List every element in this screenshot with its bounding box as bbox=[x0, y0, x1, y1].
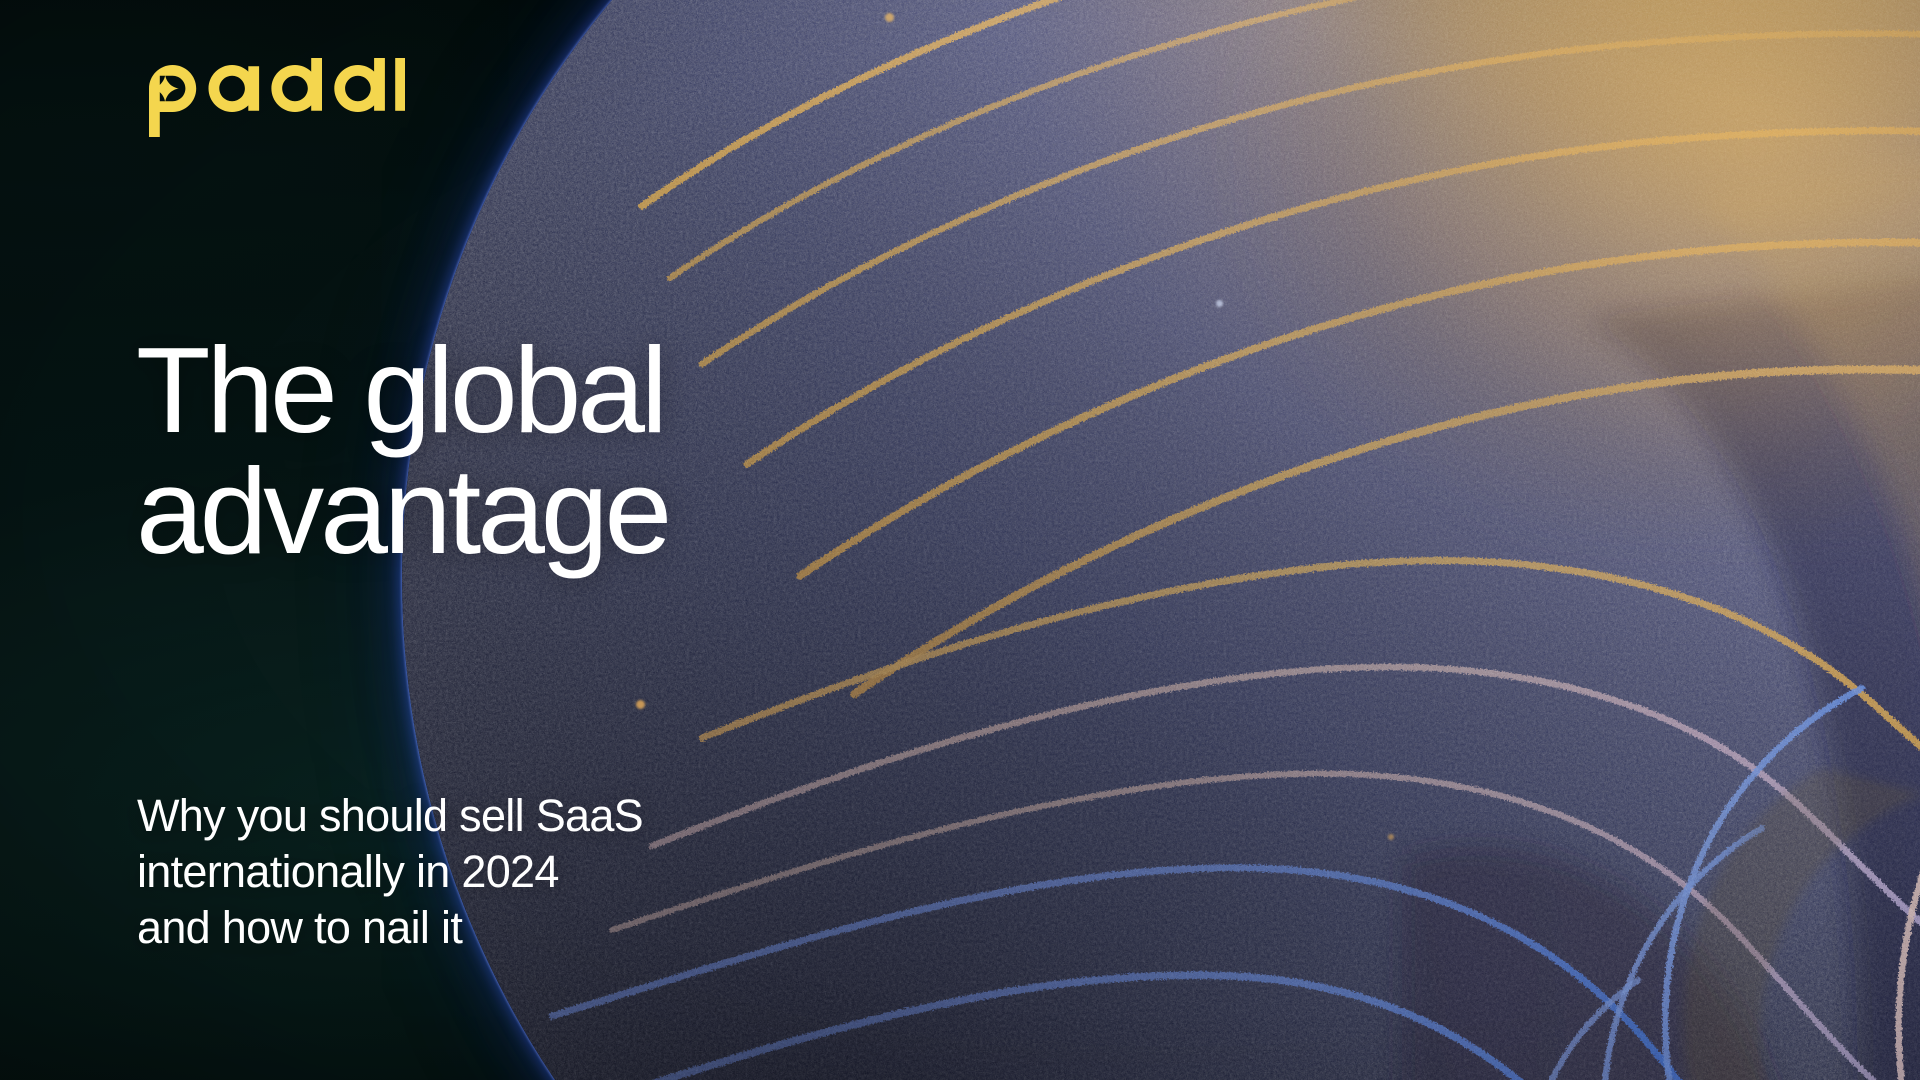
page-subtitle: Why you should sell SaaS internationally… bbox=[137, 788, 897, 955]
cover-canvas: The global advantage Why you should sell… bbox=[0, 0, 1920, 1080]
page-title: The global advantage bbox=[136, 330, 1036, 572]
paddle-logo[interactable] bbox=[137, 58, 405, 140]
paddle-wordmark bbox=[149, 58, 405, 137]
